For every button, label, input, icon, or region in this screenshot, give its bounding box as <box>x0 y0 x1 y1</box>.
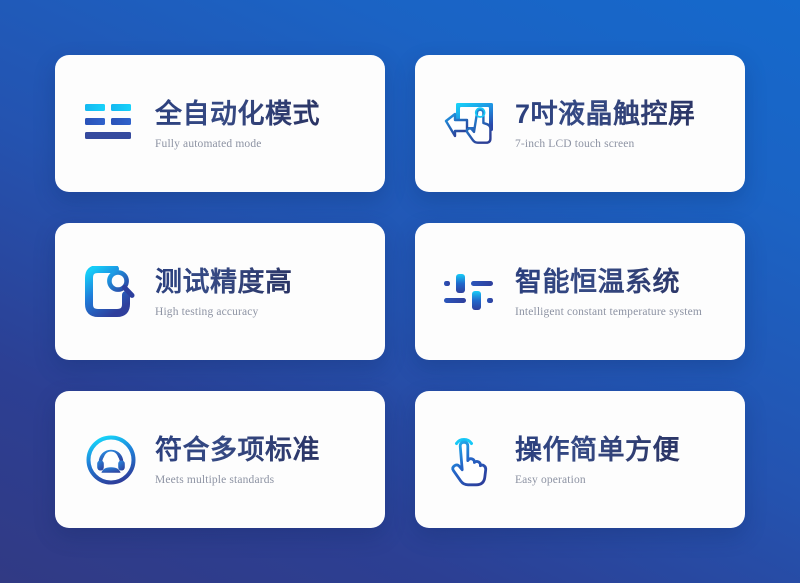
tap-hand-icon <box>441 430 501 490</box>
feature-text-block: 7吋液晶触控屏 7-inch LCD touch screen <box>515 97 696 149</box>
headset-circle-icon <box>81 430 141 490</box>
feature-subtitle: Intelligent constant temperature system <box>515 306 702 318</box>
feature-subtitle: Meets multiple standards <box>155 474 320 486</box>
feature-subtitle: Fully automated mode <box>155 138 320 150</box>
document-magnifier-icon <box>81 262 141 322</box>
feature-title: 全自动化模式 <box>155 99 320 130</box>
feature-card-automated-mode[interactable]: 全自动化模式 Fully automated mode <box>55 55 385 192</box>
sliders-icon <box>441 262 501 322</box>
feature-card-lcd-touch-screen[interactable]: 7吋液晶触控屏 7-inch LCD touch screen <box>415 55 745 192</box>
feature-text-block: 智能恒温系统 Intelligent constant temperature … <box>515 265 702 317</box>
feature-text-block: 操作简单方便 Easy operation <box>515 433 680 485</box>
feature-card-constant-temperature[interactable]: 智能恒温系统 Intelligent constant temperature … <box>415 223 745 360</box>
feature-title: 操作简单方便 <box>515 435 680 466</box>
feature-text-block: 全自动化模式 Fully automated mode <box>155 97 320 149</box>
bars-icon <box>81 94 141 154</box>
feature-grid: 全自动化模式 Fully automated mode <box>55 55 745 528</box>
feature-card-easy-operation[interactable]: 操作简单方便 Easy operation <box>415 391 745 528</box>
feature-title: 符合多项标准 <box>155 435 320 466</box>
touchscreen-icon <box>441 94 501 154</box>
feature-title: 测试精度高 <box>155 267 293 298</box>
feature-title: 7吋液晶触控屏 <box>515 99 696 130</box>
feature-subtitle: 7-inch LCD touch screen <box>515 138 696 150</box>
feature-text-block: 符合多项标准 Meets multiple standards <box>155 433 320 485</box>
feature-subtitle: High testing accuracy <box>155 306 293 318</box>
feature-subtitle: Easy operation <box>515 474 680 486</box>
feature-text-block: 测试精度高 High testing accuracy <box>155 265 293 317</box>
feature-title: 智能恒温系统 <box>515 267 702 298</box>
feature-card-testing-accuracy[interactable]: 测试精度高 High testing accuracy <box>55 223 385 360</box>
feature-card-multiple-standards[interactable]: 符合多项标准 Meets multiple standards <box>55 391 385 528</box>
